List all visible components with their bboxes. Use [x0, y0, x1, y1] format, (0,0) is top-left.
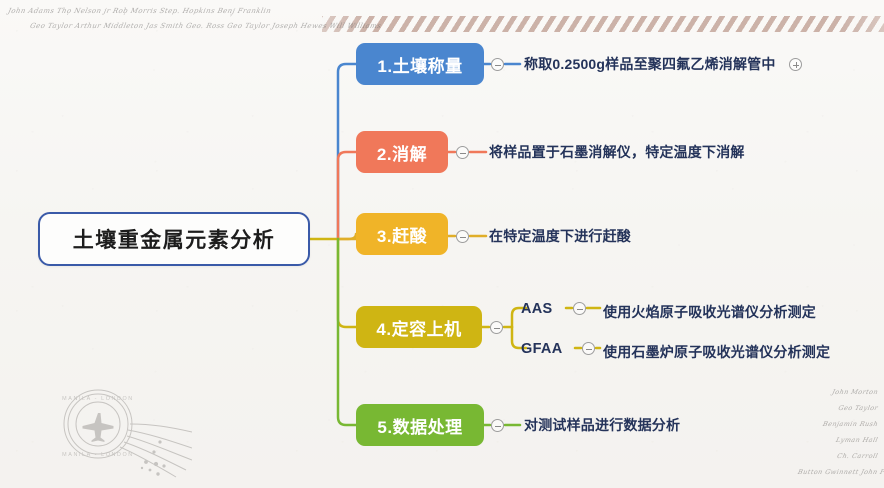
collapse-icon-gfaa[interactable]	[582, 342, 595, 355]
collapse-icon-branch-2[interactable]	[456, 146, 469, 159]
leaf-text-5[interactable]: 对测试样品进行数据分析	[524, 415, 680, 435]
branch-node-5[interactable]: 5.数据处理	[356, 404, 484, 446]
root-node[interactable]: 土壤重金属元素分析	[38, 212, 310, 266]
mindmap-canvas: John Adams Tho̩ Nelson jr Rob̩ Morris St…	[0, 0, 884, 488]
branch-node-3[interactable]: 3.赶酸	[356, 213, 448, 255]
leaf-text-gfaa[interactable]: 使用石墨炉原子吸收光谱仪分析测定	[603, 342, 830, 362]
branch-node-1[interactable]: 1.土壤称量	[356, 43, 484, 85]
sub-node-aas-label[interactable]: AAS	[521, 301, 553, 317]
branch-node-1-label: 1.土壤称量	[377, 52, 462, 77]
mindmap: 土壤重金属元素分析 1.土壤称量 2.消解 3.赶酸 4.定容上机 5.数据处理…	[0, 0, 884, 488]
branch-node-3-label: 3.赶酸	[377, 222, 427, 247]
leaf-text-2[interactable]: 将样品置于石墨消解仪，特定温度下消解	[489, 142, 745, 162]
collapse-icon-branch-3[interactable]	[456, 230, 469, 243]
connector-branch-4	[338, 239, 356, 327]
branch-node-5-label: 5.数据处理	[377, 413, 462, 438]
leaf-text-aas[interactable]: 使用火焰原子吸收光谱仪分析测定	[603, 302, 816, 322]
branch-node-2-label: 2.消解	[377, 140, 427, 165]
branch-node-4-label: 4.定容上机	[376, 315, 461, 340]
expand-icon-leaf-1[interactable]	[789, 58, 802, 71]
collapse-icon-branch-1[interactable]	[491, 58, 504, 71]
root-node-label: 土壤重金属元素分析	[73, 224, 276, 254]
collapse-icon-branch-5[interactable]	[491, 419, 504, 432]
leaf-text-1[interactable]: 称取0.2500g样品至聚四氟乙烯消解管中	[524, 54, 776, 74]
sub-node-gfaa-label[interactable]: GFAA	[521, 341, 562, 357]
branch-node-2[interactable]: 2.消解	[356, 131, 448, 173]
connector-branch-2	[338, 152, 356, 239]
connector-branch-5	[338, 239, 356, 425]
collapse-icon-branch-4[interactable]	[490, 321, 503, 334]
leaf-text-3[interactable]: 在特定温度下进行赶酸	[489, 226, 631, 246]
branch-node-4[interactable]: 4.定容上机	[356, 306, 482, 348]
collapse-icon-aas[interactable]	[573, 302, 586, 315]
